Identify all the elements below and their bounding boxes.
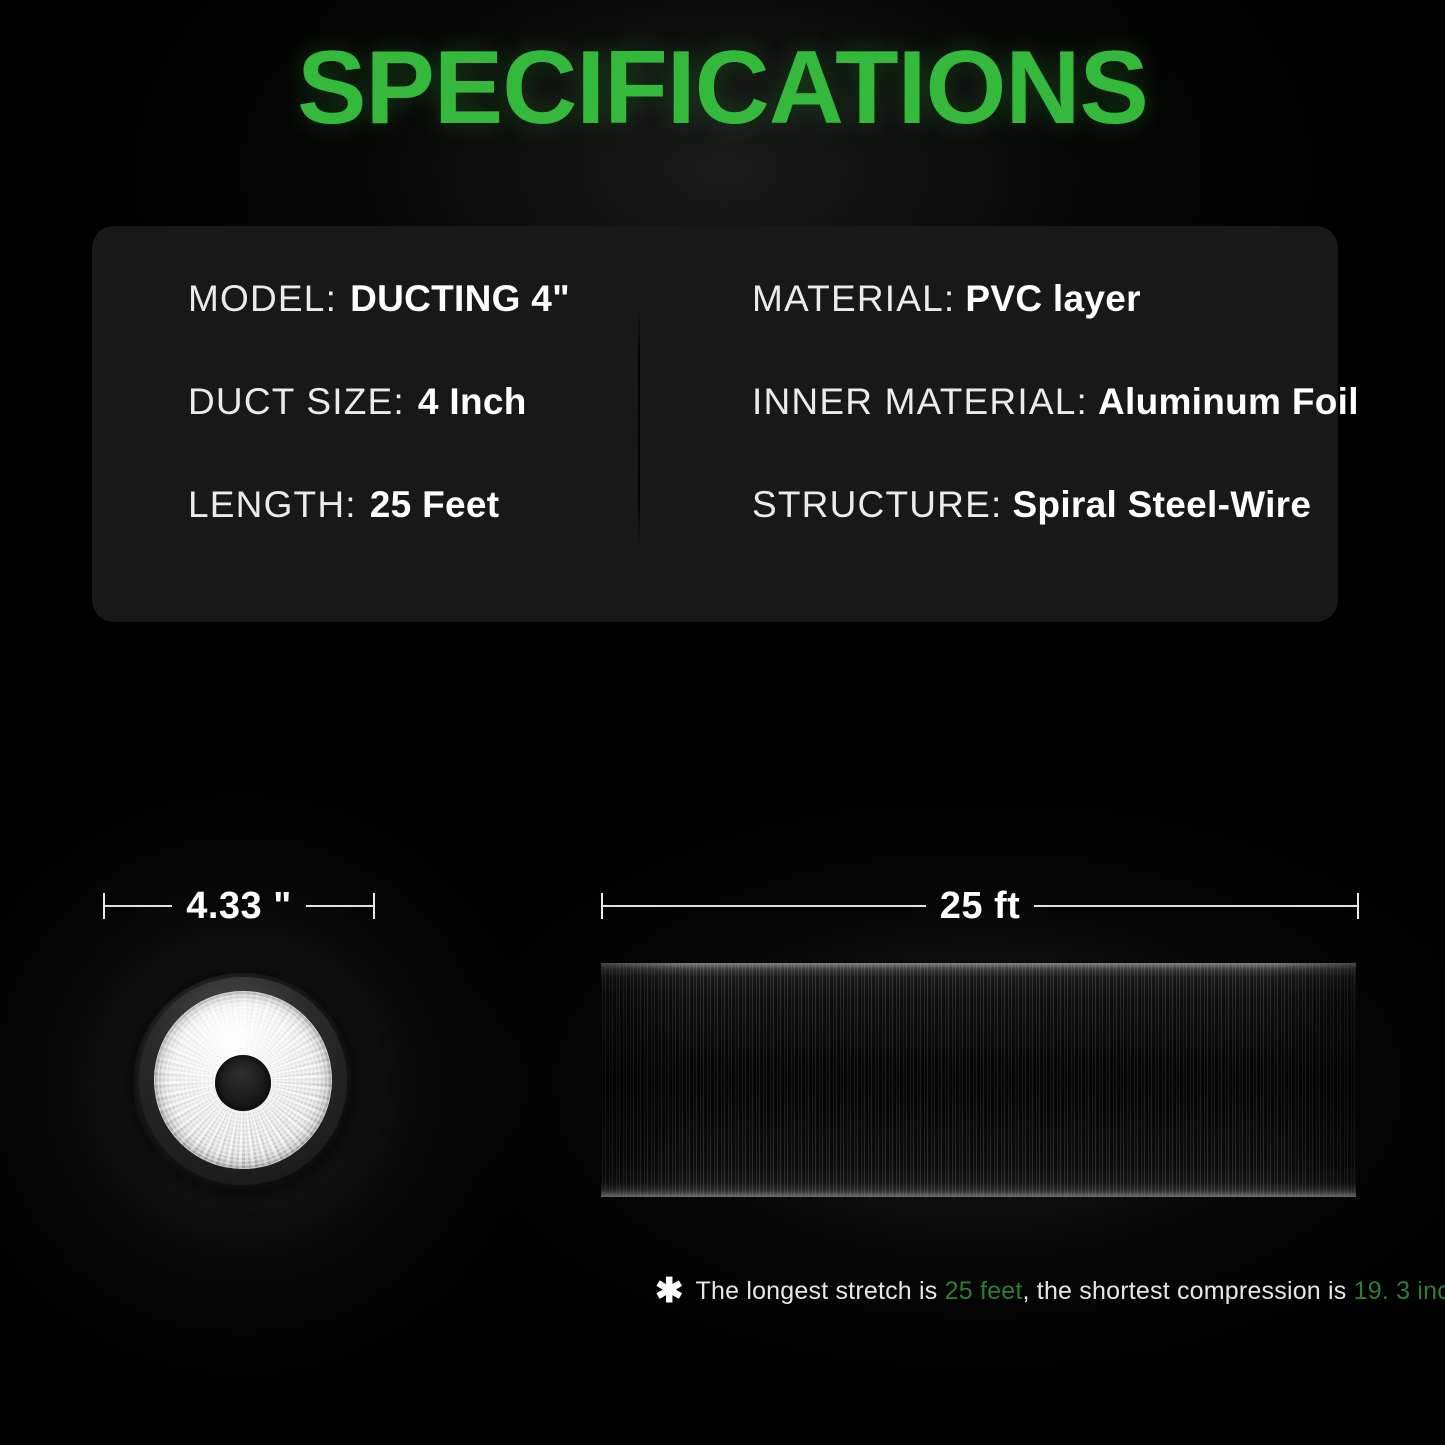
dimension-line-right [306, 905, 373, 907]
footnote-text: The longest stretch is 25 feet, the shor… [696, 1277, 1445, 1306]
spec-row-structure: STRUCTURE: Spiral Steel-Wire [752, 484, 1312, 587]
page-title: SPECIFICATIONS [0, 36, 1445, 140]
spec-row-inner-material: INNER MATERIAL: Aluminum Foil [752, 381, 1312, 484]
duct-center-opening [215, 1055, 271, 1111]
dimension-line-left [105, 905, 172, 907]
duct-cross-section-image [133, 973, 353, 1193]
spec-value-length: 25 Feet [370, 484, 500, 526]
spec-value-material: PVC layer [965, 278, 1140, 320]
spec-value-model: DUCTING 4" [350, 278, 570, 320]
spec-column-left: MODEL: DUCTING 4" DUCT SIZE: 4 Inch LENG… [188, 278, 638, 587]
specification-card: MODEL: DUCTING 4" DUCT SIZE: 4 Inch LENG… [92, 226, 1338, 622]
spec-label-structure: STRUCTURE: [752, 484, 1002, 526]
spec-row-model: MODEL: DUCTING 4" [188, 278, 638, 381]
spec-label-material: MATERIAL: [752, 278, 955, 320]
spec-column-right: MATERIAL: PVC layer INNER MATERIAL: Alum… [752, 278, 1312, 587]
footnote: ✱ The longest stretch is 25 feet, the sh… [655, 1271, 1375, 1311]
column-divider [638, 308, 640, 548]
spec-value-inner-material: Aluminum Foil [1098, 381, 1359, 423]
footnote-highlight-compression: 19. 3 inch [1354, 1277, 1445, 1305]
footnote-part-2: , the shortest compression is [1023, 1277, 1354, 1305]
dimension-label-diameter: 4.33 " [172, 885, 306, 928]
spec-label-duct-size: DUCT SIZE: [188, 381, 405, 423]
dimension-cap-right [1357, 893, 1359, 919]
duct-body-vignette [601, 963, 1356, 1197]
asterisk-icon: ✱ [655, 1274, 684, 1308]
duct-body-image [601, 963, 1356, 1197]
spec-label-inner-material: INNER MATERIAL: [752, 381, 1088, 423]
dimension-cap-right [373, 893, 375, 919]
duct-body-sheen [601, 963, 1356, 1197]
spec-row-duct-size: DUCT SIZE: 4 Inch [188, 381, 638, 484]
dimension-label-length: 25 ft [926, 885, 1035, 928]
dimension-length: 25 ft [601, 886, 1359, 926]
spec-row-length: LENGTH: 25 Feet [188, 484, 638, 587]
spec-value-structure: Spiral Steel-Wire [1012, 484, 1311, 526]
dimension-line-right [1034, 905, 1357, 907]
specifications-page: SPECIFICATIONS MODEL: DUCTING 4" DUCT SI… [0, 0, 1445, 1445]
footnote-part-1: The longest stretch is [696, 1277, 945, 1305]
footnote-highlight-stretch: 25 feet [945, 1277, 1023, 1305]
spec-value-duct-size: 4 Inch [418, 381, 527, 423]
dimension-line-left [603, 905, 926, 907]
spec-row-material: MATERIAL: PVC layer [752, 278, 1312, 381]
spec-label-length: LENGTH: [188, 484, 357, 526]
spec-label-model: MODEL: [188, 278, 337, 320]
dimension-diameter: 4.33 " [103, 886, 375, 926]
